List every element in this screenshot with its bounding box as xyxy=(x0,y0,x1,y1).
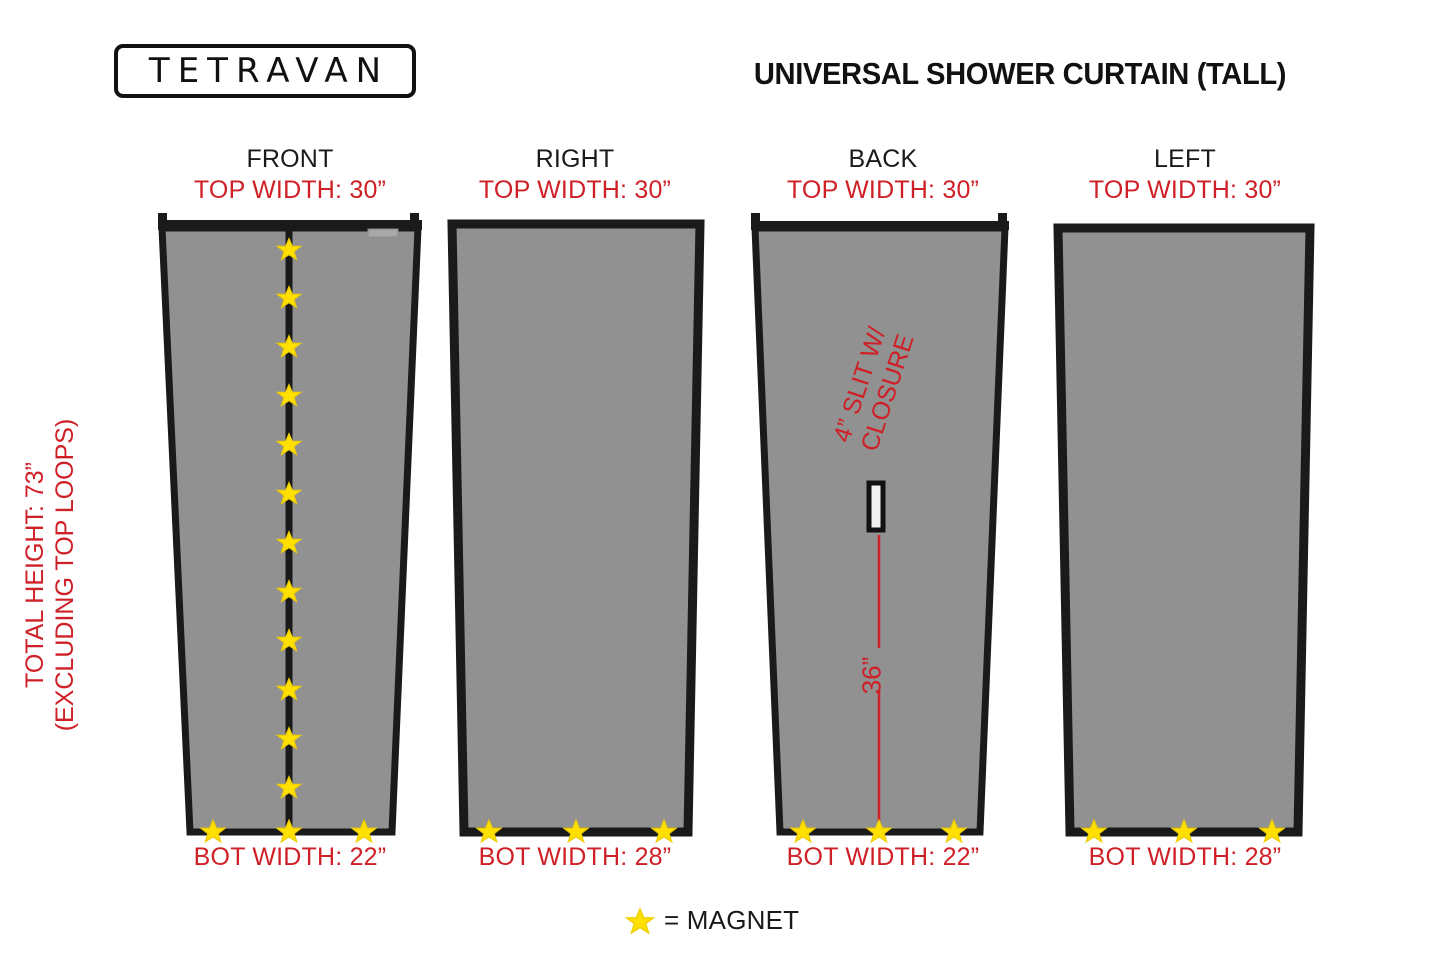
legend-star-icon xyxy=(625,906,655,936)
left-fabric-body xyxy=(1058,228,1310,832)
legend-label: = MAGNET xyxy=(664,905,799,936)
panel-left-bottom-width: BOT WIDTH: 28” xyxy=(1050,843,1320,872)
legend: = MAGNET xyxy=(625,905,799,936)
panel-left-drawing xyxy=(0,0,1445,963)
